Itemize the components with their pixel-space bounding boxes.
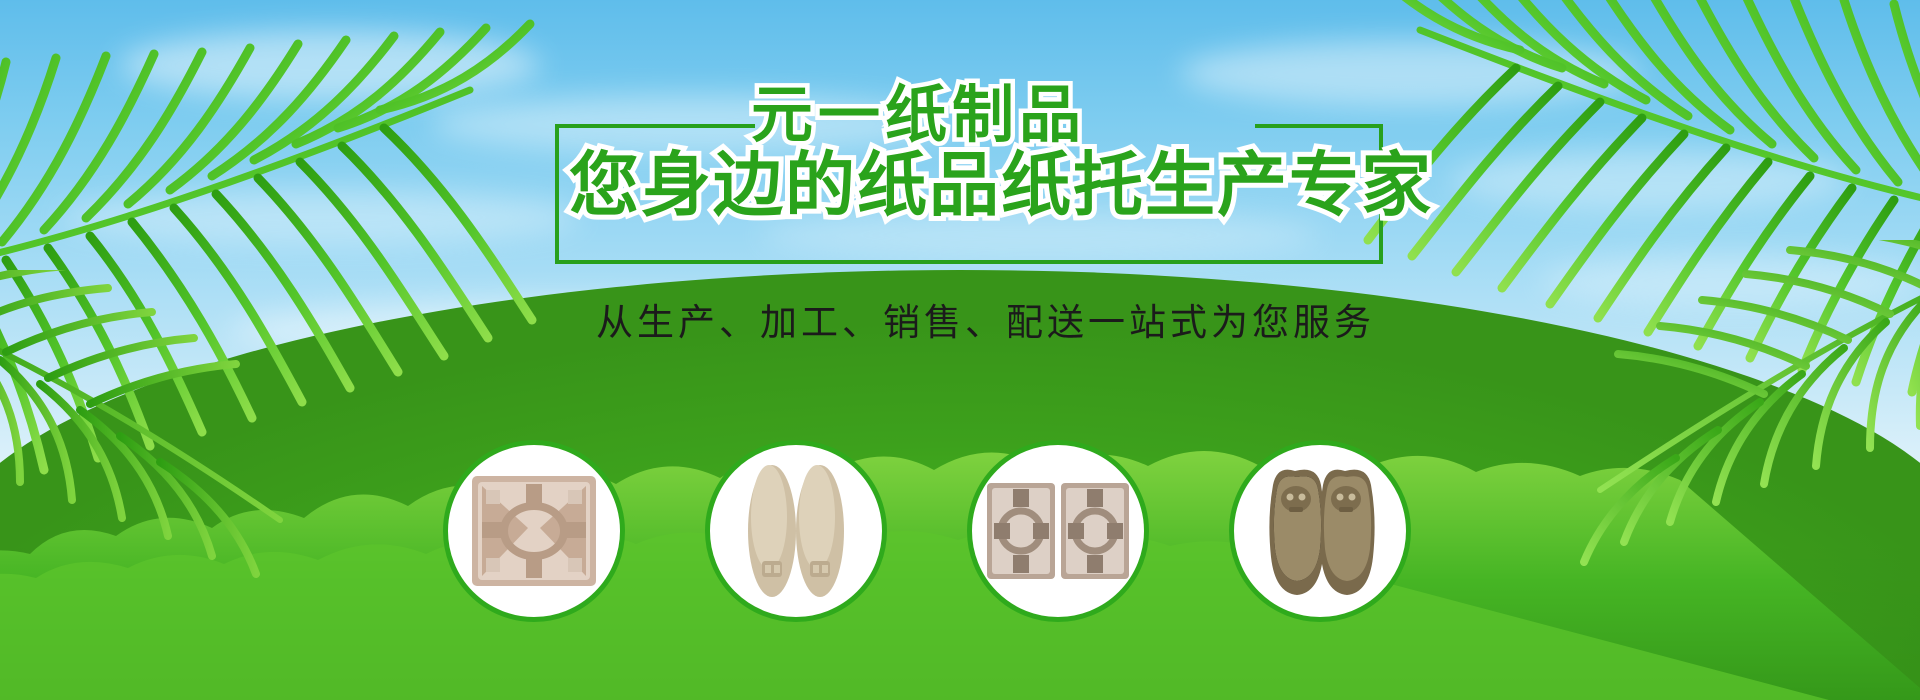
molded-pulp-tray-square-icon bbox=[468, 472, 600, 590]
product-circle-2[interactable] bbox=[705, 440, 887, 622]
product-circle-group bbox=[0, 0, 1920, 700]
molded-pulp-shoe-form-pair-icon bbox=[1261, 461, 1379, 601]
molded-pulp-tray-pair-icon bbox=[985, 479, 1131, 583]
molded-pulp-shoe-tree-pair-icon bbox=[740, 457, 852, 605]
promo-banner: 元一纸制品 您身边的纸品纸托生产专家 从生产、加工、销售、配送一站式为您服务 bbox=[0, 0, 1920, 700]
product-circle-1[interactable] bbox=[443, 440, 625, 622]
product-circle-4[interactable] bbox=[1229, 440, 1411, 622]
product-circle-3[interactable] bbox=[967, 440, 1149, 622]
